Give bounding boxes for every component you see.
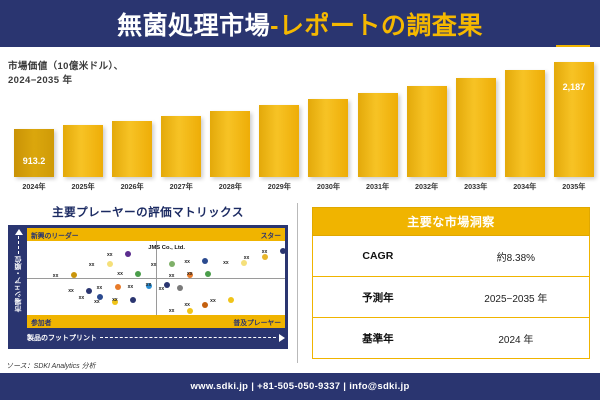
matrix-point-label: xx xyxy=(187,271,193,277)
bar: 2,187 xyxy=(554,62,594,177)
page-title-primary: 無菌処理市場 xyxy=(117,12,270,40)
chart-subtitle-line1: 市場価値（10億米ドル）、 xyxy=(8,60,124,74)
x-axis-tick-label: 2028年 xyxy=(210,182,250,192)
matrix-x-axis-label: 製品のフットプリント xyxy=(27,333,97,343)
insights-row: 予測年2025−2035 年 xyxy=(312,277,590,318)
panel-divider xyxy=(297,203,298,363)
matrix-data-point xyxy=(169,261,175,267)
page-footer: www.sdki.jp | +81-505-050-9337 | info@sd… xyxy=(0,373,600,400)
bar xyxy=(63,125,103,177)
bar xyxy=(112,121,152,177)
matrix-point-label: xx xyxy=(68,288,74,294)
bar xyxy=(456,78,496,177)
matrix-point-label: xx xyxy=(169,308,175,314)
matrix-title: 主要プレーヤーの評価マトリックス xyxy=(0,199,296,220)
insights-row-value: 2025−2035 年 xyxy=(443,290,589,305)
matrix-data-point xyxy=(86,288,92,294)
bar xyxy=(308,99,348,177)
matrix-point-label: xx xyxy=(117,271,123,277)
insights-heading-text: 主要な市場洞察 xyxy=(407,213,495,230)
page-header: 無菌処理市場-レポートの調査果 xyxy=(0,0,600,47)
matrix-point-label: xx xyxy=(210,298,216,304)
matrix-top-band: 新興のリーダー スター xyxy=(27,228,285,241)
matrix-point-label: xx xyxy=(223,260,229,266)
matrix-y-axis: 市場シェア・順位 xyxy=(10,228,27,346)
matrix-data-point xyxy=(177,285,183,291)
matrix-data-point xyxy=(107,261,113,267)
matrix-data-point xyxy=(202,302,208,308)
chart-subtitle: 市場価値（10億米ドル）、 2024−2035 年 xyxy=(8,60,124,89)
bar-column xyxy=(210,51,250,177)
insights-row-key: CAGR xyxy=(313,250,443,262)
page-title-secondary: -レポートの調査果 xyxy=(270,12,483,40)
y-axis-dashed-line xyxy=(18,236,19,254)
matrix-y-axis-label: 市場シェア・順位 xyxy=(14,256,24,312)
bar-column xyxy=(358,51,398,177)
matrix-plot-area: JMS Co., Ltd. xxxxxxxxxxxxxxxxxxxxxxxxxx… xyxy=(27,241,285,315)
bar: 913.2 xyxy=(14,129,54,177)
x-axis-tick-label: 2029年 xyxy=(259,182,299,192)
matrix-inner: 新興のリーダー スター JMS Co., Ltd. xxxxxxxxxxxxxx… xyxy=(27,228,285,346)
matrix-data-point xyxy=(205,271,211,277)
key-market-insights-panel: 主要な市場洞察 CAGR約8.38%予測年2025−2035 年基準年2024 … xyxy=(312,207,590,362)
bar-column xyxy=(161,51,201,177)
x-axis-tick-label: 2027年 xyxy=(161,182,201,192)
quadrant-label-pervasive-player: 普及プレーヤー xyxy=(233,317,281,327)
matrix-x-axis: 製品のフットプリント xyxy=(27,330,285,345)
x-axis-tick-label: 2032年 xyxy=(407,182,447,192)
x-axis-tick-label: 2030年 xyxy=(308,182,348,192)
matrix-data-point xyxy=(135,271,141,277)
matrix-data-point xyxy=(202,258,208,264)
matrix-bottom-band: 参加者 普及プレーヤー xyxy=(27,315,285,328)
arrow-up-icon xyxy=(15,229,23,235)
player-matrix-panel: 主要プレーヤーの評価マトリックス 市場シェア・順位 新興のリーダー スター JM… xyxy=(0,199,296,373)
bar-column xyxy=(407,51,447,177)
matrix-data-point xyxy=(228,297,234,303)
quadrant-label-star: スター xyxy=(261,230,281,240)
matrix-data-point xyxy=(130,297,136,303)
bar xyxy=(161,116,201,177)
matrix-point-label: xx xyxy=(112,297,118,303)
matrix-box: 市場シェア・順位 新興のリーダー スター JMS Co., Ltd. xxxxx… xyxy=(8,225,288,349)
insights-row-value: 約8.38% xyxy=(443,249,589,264)
bar-column xyxy=(456,51,496,177)
x-axis-tick-label: 2034年 xyxy=(505,182,545,192)
x-axis-tick-label: 2026年 xyxy=(112,182,152,192)
matrix-point-label: xx xyxy=(94,299,100,305)
matrix-point-label: xx xyxy=(159,286,165,292)
bar xyxy=(358,93,398,177)
lower-section: 主要プレーヤーの評価マトリックス 市場シェア・順位 新興のリーダー スター JM… xyxy=(0,199,600,373)
x-axis-tick-label: 2035年 xyxy=(554,182,594,192)
chart-x-axis: 2024年2025年2026年2027年2028年2029年2030年2031年… xyxy=(14,179,594,195)
bar xyxy=(407,86,447,177)
bar xyxy=(210,111,250,177)
matrix-point-label: xx xyxy=(169,273,175,279)
matrix-point-label: xx xyxy=(79,295,85,301)
matrix-data-point xyxy=(115,284,121,290)
matrix-data-point xyxy=(164,282,170,288)
matrix-data-point xyxy=(280,248,286,254)
insights-row-value: 2024 年 xyxy=(443,331,589,346)
insights-table: CAGR約8.38%予測年2025−2035 年基準年2024 年 xyxy=(312,236,590,359)
chart-subtitle-line2: 2024−2035 年 xyxy=(8,74,124,88)
matrix-point-label: xx xyxy=(244,255,250,261)
bar-value-label: 913.2 xyxy=(14,156,54,166)
bar-column xyxy=(505,51,545,177)
bar xyxy=(505,70,545,177)
matrix-point-label: xx xyxy=(53,273,59,279)
matrix-point-label: xx xyxy=(128,284,134,290)
bar-column xyxy=(308,51,348,177)
quadrant-label-participant: 参加者 xyxy=(31,317,51,327)
matrix-data-point xyxy=(71,272,77,278)
quadrant-label-emerging-leader: 新興のリーダー xyxy=(31,230,79,240)
matrix-data-point xyxy=(262,254,268,260)
insights-row: 基準年2024 年 xyxy=(312,318,590,359)
footer-contact-text: www.sdki.jp | +81-505-050-9337 | info@sd… xyxy=(190,381,409,392)
matrix-horizontal-separator xyxy=(27,278,285,279)
matrix-point-label: xx xyxy=(146,282,152,288)
x-axis-dashed-line xyxy=(100,337,276,338)
x-axis-tick-label: 2031年 xyxy=(358,182,398,192)
bar-column xyxy=(259,51,299,177)
matrix-point-label: xx xyxy=(107,252,113,258)
bar-column: 2,187 xyxy=(554,51,594,177)
matrix-point-label: xx xyxy=(89,262,95,268)
matrix-point-label: xx xyxy=(151,262,157,268)
market-value-bar-chart: 市場価値（10億米ドル）、 2024−2035 年 913.22,187 202… xyxy=(0,47,600,199)
insights-row-key: 予測年 xyxy=(313,290,443,305)
matrix-point-label: xx xyxy=(184,259,190,265)
arrow-right-icon xyxy=(279,334,285,342)
insights-row-key: 基準年 xyxy=(313,331,443,346)
insights-row: CAGR約8.38% xyxy=(312,236,590,277)
matrix-point-label: xx xyxy=(262,249,268,255)
bar-value-label: 2,187 xyxy=(554,82,594,92)
x-axis-tick-label: 2025年 xyxy=(63,182,103,192)
x-axis-tick-label: 2033年 xyxy=(456,182,496,192)
bar xyxy=(259,105,299,177)
matrix-data-point xyxy=(187,308,193,314)
insights-header: 主要な市場洞察 xyxy=(312,207,590,236)
highlight-company-label: JMS Co., Ltd. xyxy=(148,245,185,251)
matrix-point-label: xx xyxy=(97,285,103,291)
x-axis-tick-label: 2024年 xyxy=(14,182,54,192)
matrix-data-point xyxy=(125,251,131,257)
source-note: ソース：SDKI Analytics 分析 xyxy=(6,361,96,371)
page-title: 無菌処理市場-レポートの調査果 xyxy=(117,6,483,42)
